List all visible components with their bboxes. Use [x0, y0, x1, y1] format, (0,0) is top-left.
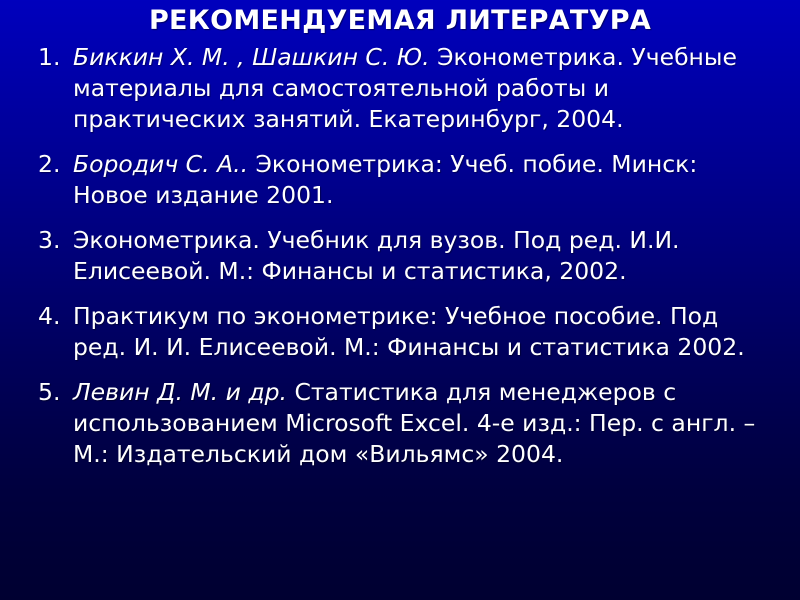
reference-details: Практикум по эконометрике: Учебное пособ… [73, 302, 745, 361]
list-item-number: 5. [38, 377, 73, 408]
list-item: 2. Бородич С. А.. Эконометрика: Учеб. по… [38, 149, 778, 211]
reference-author: Бородич С. А.. [73, 150, 248, 178]
reference-author: Биккин Х. М. , Шашкин С. Ю. [73, 43, 430, 71]
list-item: 4. Практикум по эконометрике: Учебное по… [38, 301, 778, 363]
list-item-text: Эконометрика. Учебник для вузов. Под ред… [73, 225, 778, 287]
list-item-number: 1. [38, 42, 73, 73]
list-item: 3. Эконометрика. Учебник для вузов. Под … [38, 225, 778, 287]
list-item-text: Биккин Х. М. , Шашкин С. Ю. Эконометрика… [73, 42, 778, 135]
references-list: 1. Биккин Х. М. , Шашкин С. Ю. Эконометр… [38, 42, 778, 484]
list-item-text: Левин Д. М. и др. Статистика для менедже… [73, 377, 778, 470]
presentation-slide: РЕКОМЕНДУЕМАЯ ЛИТЕРАТУРА 1. Биккин Х. М.… [0, 0, 800, 600]
reference-author: Левин Д. М. и др. [73, 378, 287, 406]
list-item-text: Практикум по эконометрике: Учебное пособ… [73, 301, 778, 363]
list-item: 5. Левин Д. М. и др. Статистика для мене… [38, 377, 778, 470]
list-item-number: 3. [38, 225, 73, 256]
list-item: 1. Биккин Х. М. , Шашкин С. Ю. Эконометр… [38, 42, 778, 135]
reference-details: Эконометрика. Учебник для вузов. Под ред… [73, 226, 680, 285]
page-title: РЕКОМЕНДУЕМАЯ ЛИТЕРАТУРА [0, 5, 800, 37]
list-item-number: 2. [38, 149, 73, 180]
list-item-number: 4. [38, 301, 73, 332]
list-item-text: Бородич С. А.. Эконометрика: Учеб. побие… [73, 149, 778, 211]
